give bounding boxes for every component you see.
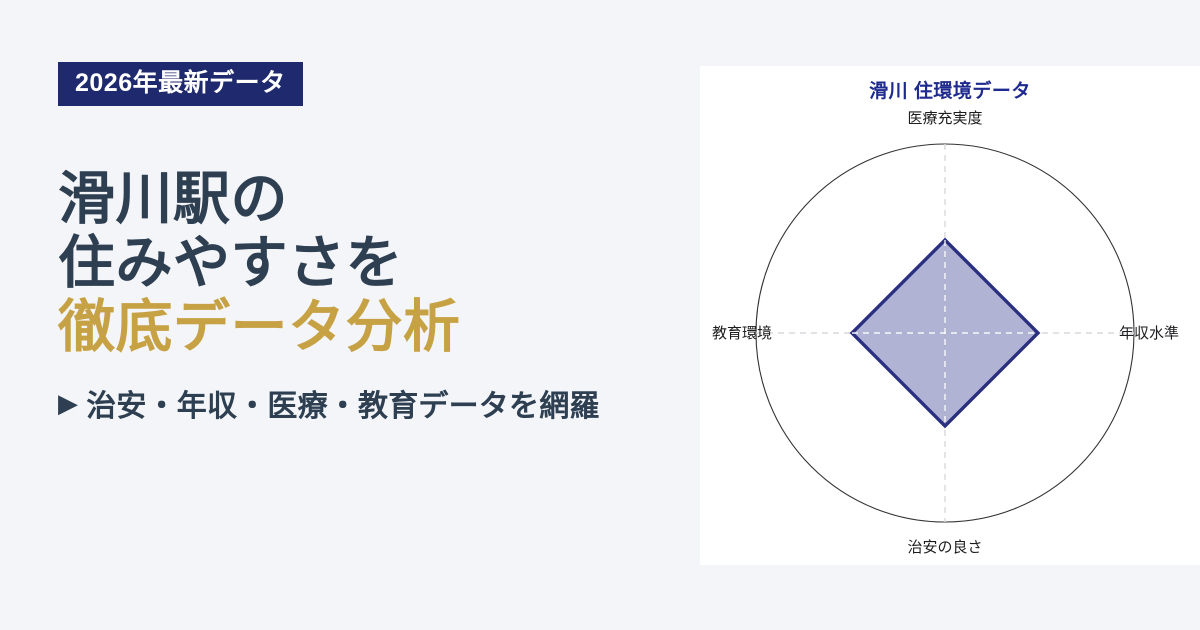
hero-text-column: 2026年最新データ 滑川駅の 住みやすさを 徹底データ分析 ▶ 治安・年収・医…: [0, 0, 700, 630]
triangle-right-icon: ▶: [58, 390, 78, 416]
radar-axis-label-medical: 医療充実度: [907, 110, 982, 127]
page-title: 滑川駅の 住みやすさを 徹底データ分析: [58, 168, 700, 359]
subtitle-text: 治安・年収・医療・教育データを網羅: [86, 381, 599, 425]
subtitle: ▶ 治安・年収・医療・教育データを網羅: [58, 381, 700, 425]
radar-chart-panel: 滑川 住環境データ 医療充実度 年収水準 治安の良さ 教育環境: [700, 66, 1200, 565]
radar-chart: 医療充実度 年収水準 治安の良さ 教育環境: [700, 66, 1200, 565]
radar-axis-label-education: 教育環境: [712, 324, 772, 342]
page-title-line-2: 住みやすさを: [58, 232, 700, 296]
page-title-line-1: 滑川駅の: [58, 168, 700, 232]
radar-axis-label-safety: 治安の良さ: [907, 539, 982, 556]
page-title-line-3: 徹底データ分析: [58, 296, 700, 360]
status-badge: 2026年最新データ: [58, 62, 303, 106]
radar-axis-label-income: 年収水準: [1119, 325, 1179, 342]
